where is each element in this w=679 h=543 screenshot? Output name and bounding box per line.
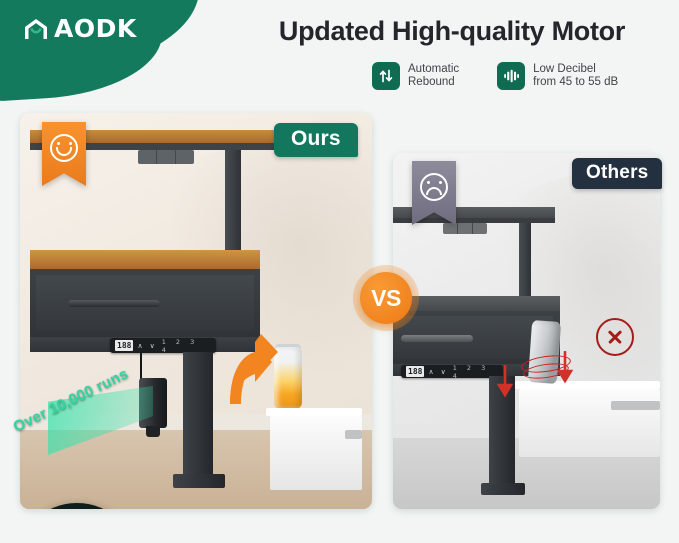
brand-logo: AODK [22, 14, 137, 43]
house-smile-logo-icon [22, 16, 50, 42]
down-arrow-icon [497, 365, 513, 406]
control-panel-ours[interactable]: 188 ∧ ∨ 1 2 3 4 [110, 338, 216, 353]
feature-badges: Automatic Rebound Low Decibel fr [372, 62, 618, 90]
shelf-support-leg [519, 223, 531, 301]
down-arrow-icon [557, 351, 573, 392]
ribbon-badge-others [412, 161, 456, 225]
feature-line-2: from 45 to 55 dB [533, 76, 618, 90]
control-arrow-down[interactable]: ∨ [441, 368, 449, 376]
feature-low-decibel-label: Low Decibel from 45 to 55 dB [533, 63, 618, 90]
desk-leg-foot [173, 474, 225, 488]
sad-face-icon [420, 173, 448, 201]
desk-leg-column [183, 352, 213, 486]
sound-wave-icon [497, 62, 525, 90]
feature-low-decibel: Low Decibel from 45 to 55 dB [497, 62, 618, 90]
control-arrow-down[interactable]: ∨ [150, 342, 158, 350]
cabinet-body-others [519, 389, 660, 457]
up-down-arrows-icon [372, 62, 400, 90]
brand-name: AODK [54, 14, 137, 43]
smiley-face-icon [50, 134, 78, 162]
motor-cap [146, 426, 160, 437]
feature-line-1: Low Decibel [533, 63, 618, 77]
cabinet-slot-others [611, 401, 660, 410]
page-title: Updated High-quality Motor [232, 16, 672, 47]
shelf-support-leg [225, 150, 241, 260]
control-arrow-up[interactable]: ∧ [428, 368, 436, 376]
tab-ours: Ours [274, 123, 358, 157]
shelf-bracket [138, 150, 194, 164]
desk-leg-foot [481, 483, 525, 495]
feature-line-1: Automatic [408, 63, 459, 77]
cabinet-slot-ours [345, 430, 362, 439]
ribbon-badge-ours [42, 122, 86, 186]
vs-badge: VS [360, 272, 412, 324]
feature-automatic-rebound: Automatic Rebound [372, 62, 459, 90]
infographic-page: AODK Updated High-quality Motor Automati… [0, 0, 679, 543]
desk-top-board [30, 250, 260, 269]
cabinet-top-ours [266, 408, 362, 416]
tab-others: Others [572, 158, 662, 189]
drawer-handle [401, 335, 473, 342]
control-arrow-up[interactable]: ∧ [137, 342, 145, 350]
drawer-handle [68, 300, 160, 307]
control-display: 188 [115, 340, 133, 351]
feature-line-2: Rebound [408, 76, 459, 90]
feature-automatic-rebound-label: Automatic Rebound [408, 63, 459, 90]
control-panel-others[interactable]: 188 ∧ ∨ 1 2 3 4 [401, 365, 503, 378]
cabinet-body-ours [270, 416, 362, 490]
x-circle-icon [596, 318, 634, 356]
control-display: 188 [406, 366, 424, 377]
rebound-up-arrow-icon [228, 330, 288, 408]
motor-cable [140, 353, 142, 379]
